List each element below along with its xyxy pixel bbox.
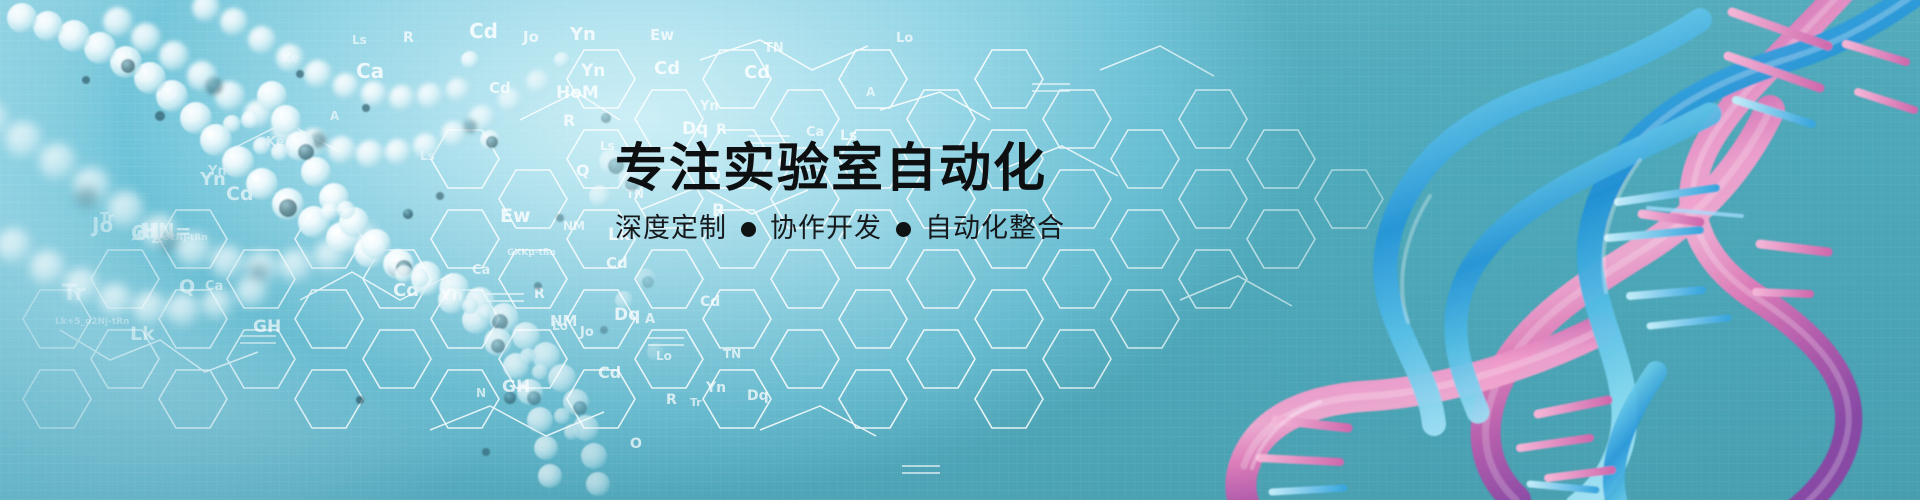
subtitle-item-1: 深度定制 (615, 212, 727, 246)
hero-banner: Tr Jo Tr Ø r Lk Lk+S_o2Nj-tRn Lk+5_o2Nj-… (0, 0, 1920, 500)
bullet-separator-icon (896, 222, 911, 237)
banner-copy: 专注实验室自动化 深度定制 协作开发 自动化整合 (615, 140, 1515, 246)
banner-subtitle: 深度定制 协作开发 自动化整合 (615, 212, 1515, 246)
subtitle-item-2: 协作开发 (770, 212, 882, 246)
page-title: 专注实验室自动化 (615, 140, 1515, 198)
subtitle-item-3: 自动化整合 (925, 212, 1065, 246)
background-vignette (0, 0, 1920, 500)
bullet-separator-icon (741, 222, 756, 237)
